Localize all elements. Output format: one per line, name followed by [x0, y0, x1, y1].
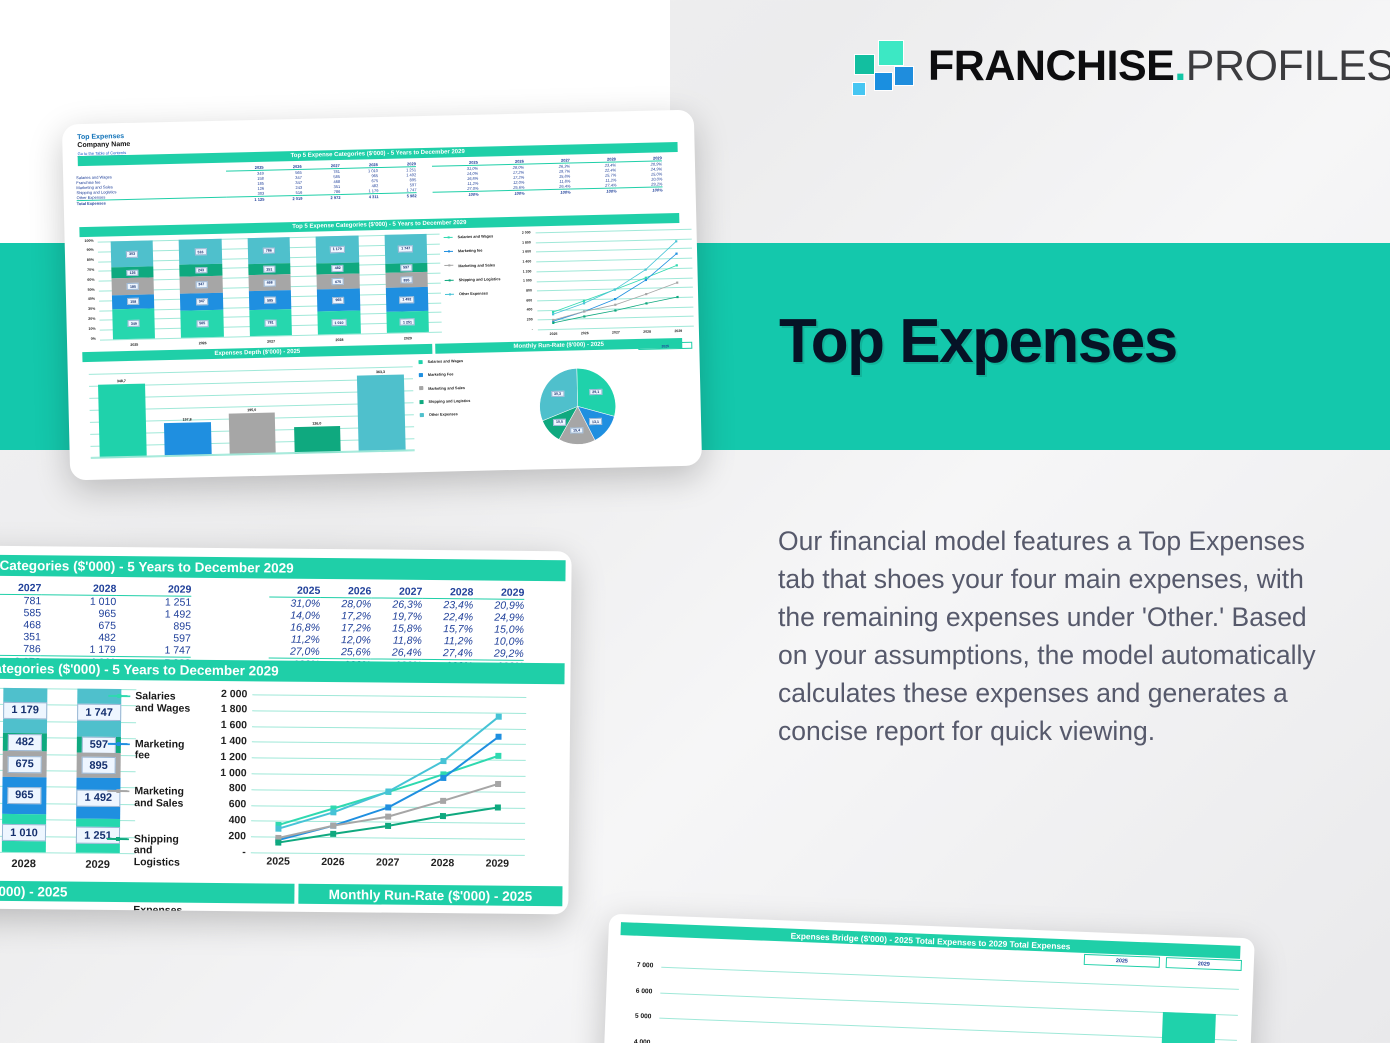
pie-slice-label: 13,1: [589, 418, 602, 425]
stacked-bar-column: 516243347347565: [179, 239, 224, 338]
expense-categories-detail-preview: Top 5 Expense Categories ($'000) - 5 Yea…: [0, 545, 572, 915]
hero-description: Our financial model features a Top Expen…: [778, 522, 1343, 750]
legend-item: Other Expenses: [445, 291, 515, 297]
legend-marker-icon: [108, 738, 130, 749]
legend-item: Marketing and Sales: [444, 262, 514, 268]
col-header: 2029: [116, 583, 191, 596]
legend-item: Marketing fee: [444, 248, 514, 254]
stacked-bar-column: 303126185158349: [111, 240, 156, 339]
legend-label: Marketing Fee: [428, 373, 454, 378]
legend-label: Shipping and Logistics: [428, 399, 470, 404]
legend-item: Shipping and Logistics: [419, 398, 489, 404]
logo-word-franchise: FRANCHISE: [928, 42, 1174, 90]
legend-label: Other Expenses: [429, 412, 458, 417]
legend-item: Marketing Fee: [419, 372, 489, 378]
stacked-chart-legend: Salaries and Wages Marketing fee Marketi…: [444, 234, 516, 307]
legend-marker-icon: [419, 360, 423, 364]
legend-item: Salaries and Wages: [444, 234, 514, 240]
legend-marker-icon: [444, 250, 453, 254]
legend-item: Other Expenses: [420, 411, 490, 417]
expense-trend-line-chart: 2 0001 8001 6001 4001 2001 0008006004002…: [516, 226, 697, 340]
stacked-bar-column: 786351468585781: [247, 237, 292, 336]
legend-label: Shipping and Logistics: [134, 834, 195, 870]
legend-item: Marketing and Sales: [419, 385, 489, 391]
monthly-run-rate-pie-chart: 29,113,115,410,530,32025: [495, 354, 697, 459]
sheet-header: Top Expenses Company Name Go to the Tabl…: [77, 133, 130, 156]
col-header: 2027: [371, 585, 422, 598]
detail-values-table: 20262027202820295657811 0101 25134758596…: [0, 581, 191, 670]
legend-label: Marketing and Sales: [428, 386, 465, 391]
expense-values-table: 20252026202720282029Salaries and Wages34…: [76, 161, 417, 206]
bar: [357, 374, 405, 451]
col-header: 2026: [320, 585, 371, 598]
brand-logo: FRANCHISE.PROFILES: [850, 38, 1390, 94]
expenses-bridge-preview: Expenses Bridge ($'000) - 2025 Total Exp…: [603, 914, 1255, 1043]
col-header: 2027: [0, 582, 41, 595]
bar: [228, 413, 276, 455]
legend-marker-icon: [444, 235, 453, 239]
col-header: 2028: [41, 582, 116, 595]
expenses-depth-bar-chart: 348,7157,8195,0126,0363,3: [83, 358, 415, 466]
logo-wordmark: FRANCHISE.PROFILES: [928, 45, 1390, 88]
legend-label: Salaries and Wages: [428, 359, 464, 364]
stacked-100-bar-chart: 100%90%80%70%60%50%40%30%20%10%0%3031261…: [80, 232, 442, 350]
legend-marker-icon: [419, 400, 423, 404]
legend-label: Marketing and Sales: [134, 786, 195, 810]
col-header: 2025: [269, 584, 320, 597]
legend-marker-icon: [419, 387, 423, 391]
banner-monthly-run-rate-detail: Monthly Run-Rate ($'000) - 2025: [298, 884, 562, 907]
legend-marker-icon: [444, 264, 453, 268]
legend-item: Marketing fee: [108, 738, 196, 762]
legend-label: Salaries and Wages: [458, 234, 494, 239]
stacked-bar-column: 1 1794826759651 010: [316, 236, 361, 335]
pie-year-legend: 2025: [638, 342, 692, 350]
banner-expense-categories-detail: Top 5 Expense Categories ($'000) - 5 Yea…: [0, 554, 566, 582]
bar: [164, 422, 211, 456]
logo-dot: .: [1174, 42, 1185, 90]
legend-item: Shipping and Logistics: [445, 277, 515, 283]
detail-chart-legend: Salaries and Wages Marketing fee Marketi…: [106, 691, 196, 914]
legend-label: Marketing fee: [135, 739, 196, 763]
banner-expenses-depth-detail: Expenses Depth ($'000) - 2025: [0, 880, 295, 904]
expense-percent-table: 2025202620272028202931,0%28,0%26,3%23,4%…: [432, 155, 663, 197]
legend-item: Shipping and Logistics: [107, 833, 195, 869]
bar: [294, 426, 341, 454]
legend-marker-icon: [445, 292, 454, 296]
charts-row-bottom: 348,7157,8195,0126,0363,3 Salaries and W…: [83, 352, 685, 471]
sheet-title: Top Expenses: [77, 133, 130, 141]
axis-tick-label: 4 000: [616, 1038, 650, 1043]
pie-slice-label: 29,1: [589, 389, 602, 396]
legend-marker-icon: [107, 786, 129, 797]
pie-slice-label: 30,3: [551, 390, 564, 397]
legend-item: Salaries and Wages: [108, 691, 196, 715]
legend-item: Marketing and Sales: [107, 786, 195, 810]
legend-label: Marketing and Sales: [458, 263, 495, 268]
logo-word-profiles: PROFILES: [1186, 42, 1390, 90]
pie-slice-label: 10,5: [553, 419, 566, 426]
detail-charts-row: 3031261851583492025516243347347565202678…: [0, 683, 564, 880]
pie-slice-label: 15,4: [570, 427, 583, 434]
depth-chart-legend: Salaries and Wages Marketing Fee Marketi…: [419, 359, 491, 427]
waterfall-bar: [1157, 1012, 1216, 1043]
axis-tick-label: 5 000: [617, 1012, 651, 1020]
legend-label: Shipping and Logistics: [459, 277, 501, 282]
axis-tick-label: 7 000: [619, 961, 653, 969]
col-header: 2028: [422, 586, 473, 599]
stacked-bar-column: 1 7475978951 4921 251: [384, 234, 429, 333]
legend-marker-icon: [445, 278, 454, 282]
charts-row-top: 100%90%80%70%60%50%40%30%20%10%0%3031261…: [80, 226, 682, 350]
legend-item: Salaries and Wages: [419, 359, 489, 365]
table-row: 5167861 1791 747: [0, 642, 191, 657]
legend-marker-icon: [419, 373, 423, 377]
detail-percent-table: 2025202620272028202931,0%28,0%26,3%23,4%…: [269, 584, 525, 672]
legend-marker-icon: [108, 691, 130, 702]
legend-marker-icon: [107, 833, 129, 844]
legend-label: Marketing fee: [458, 249, 483, 254]
axis-tick-label: 6 000: [618, 987, 652, 995]
top-expenses-sheet-preview: Top Expenses Company Name Go to the Tabl…: [62, 110, 702, 481]
detail-line-chart: 2 0001 8001 6001 4001 2001 0008006004002…: [199, 686, 537, 879]
legend-label: Salaries and Wages: [135, 691, 196, 715]
detail-tables: 20262027202820295657811 0101 25134758596…: [0, 581, 565, 661]
col-header: 2029: [473, 586, 524, 599]
logo-squares-icon: [850, 38, 910, 94]
stacked-bar-column: 1 1794826759651 010: [2, 688, 48, 852]
page-title: Top Expenses: [779, 306, 1177, 377]
legend-label: Other Expenses: [459, 292, 488, 297]
legend-marker-icon: [420, 413, 424, 417]
bar: [98, 383, 146, 457]
sheet-company: Company Name: [77, 141, 130, 149]
